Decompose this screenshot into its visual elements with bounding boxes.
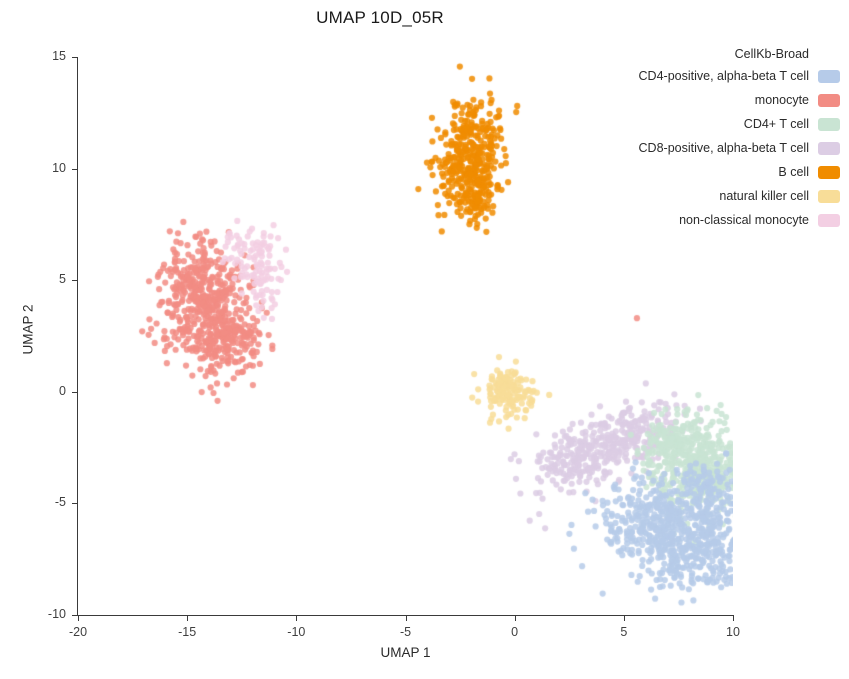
legend-item-label: CD4-positive, alpha-beta T cell — [639, 69, 818, 83]
y-tick-label: 0 — [22, 384, 66, 398]
legend-items: CD4-positive, alpha-beta T cellmonocyteC… — [600, 64, 840, 232]
legend-item-label: CD4+ T cell — [744, 117, 818, 131]
legend-item[interactable]: natural killer cell — [600, 184, 840, 208]
x-tick-mark — [733, 616, 734, 621]
x-tick-mark — [406, 616, 407, 621]
legend-item[interactable]: CD4-positive, alpha-beta T cell — [600, 64, 840, 88]
y-tick-mark — [72, 615, 77, 616]
y-tick-mark — [72, 280, 77, 281]
legend-item[interactable]: monocyte — [600, 88, 840, 112]
legend-color-swatch — [818, 214, 840, 227]
legend-color-swatch — [818, 94, 840, 107]
y-tick-label: -10 — [22, 607, 66, 621]
x-tick-label: -5 — [376, 625, 436, 639]
x-tick-label: -20 — [48, 625, 108, 639]
x-tick-label: 5 — [594, 625, 654, 639]
y-axis-line — [77, 57, 78, 616]
x-tick-mark — [187, 616, 188, 621]
x-tick-label: -15 — [157, 625, 217, 639]
legend-color-swatch — [818, 142, 840, 155]
x-tick-label: -10 — [266, 625, 326, 639]
x-tick-mark — [624, 616, 625, 621]
legend-item[interactable]: non-classical monocyte — [600, 208, 840, 232]
legend-title: CellKb-Broad — [600, 44, 840, 64]
legend-color-swatch — [818, 166, 840, 179]
legend: CellKb-Broad CD4-positive, alpha-beta T … — [600, 44, 840, 232]
y-tick-mark — [72, 169, 77, 170]
y-tick-mark — [72, 392, 77, 393]
legend-color-swatch — [818, 190, 840, 203]
x-tick-mark — [78, 616, 79, 621]
legend-item[interactable]: CD8-positive, alpha-beta T cell — [600, 136, 840, 160]
x-tick-mark — [515, 616, 516, 621]
y-axis-label: UMAP 2 — [21, 280, 36, 380]
legend-item-label: B cell — [778, 165, 818, 179]
legend-item-label: monocyte — [755, 93, 818, 107]
y-tick-label: 10 — [22, 161, 66, 175]
legend-item-label: CD8-positive, alpha-beta T cell — [639, 141, 818, 155]
page-title: UMAP 10D_05R — [0, 8, 760, 28]
legend-color-swatch — [818, 70, 840, 83]
x-axis-label: UMAP 1 — [78, 645, 733, 660]
x-tick-label: 0 — [485, 625, 545, 639]
legend-item[interactable]: B cell — [600, 160, 840, 184]
y-tick-label: -5 — [22, 495, 66, 509]
x-tick-mark — [296, 616, 297, 621]
y-tick-mark — [72, 57, 77, 58]
x-tick-label: 10 — [703, 625, 763, 639]
legend-item-label: non-classical monocyte — [679, 213, 818, 227]
umap-scatter-figure: UMAP 10D_05R 151050-5-10 -20-15-10-50510… — [0, 0, 849, 679]
y-tick-label: 15 — [22, 49, 66, 63]
legend-item-label: natural killer cell — [719, 189, 818, 203]
legend-color-swatch — [818, 118, 840, 131]
y-tick-mark — [72, 503, 77, 504]
legend-item[interactable]: CD4+ T cell — [600, 112, 840, 136]
